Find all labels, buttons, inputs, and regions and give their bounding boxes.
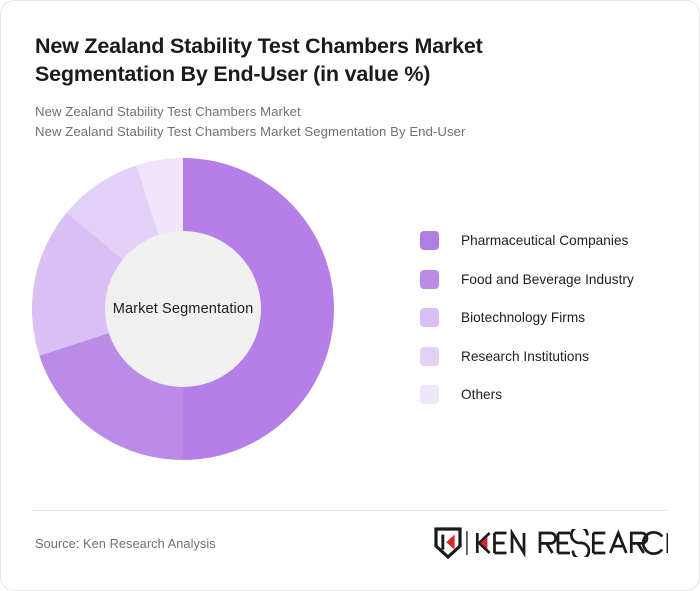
- legend-swatch-icon: [420, 270, 439, 289]
- chart-legend: Pharmaceutical CompaniesFood and Beverag…: [420, 222, 670, 415]
- logo-divider-bar: [462, 529, 471, 557]
- ken-research-logo: [434, 527, 668, 559]
- chart-header: New Zealand Stability Test Chambers Mark…: [1, 1, 699, 143]
- chart-body: Market Segmentation Pharmaceutical Compa…: [1, 143, 699, 481]
- source-note: Source: Ken Research Analysis: [35, 536, 216, 551]
- legend-item-label: Others: [461, 387, 502, 402]
- breadcrumb: New Zealand Stability Test Chambers Mark…: [35, 102, 665, 143]
- subtitle-line-1: New Zealand Stability Test Chambers Mark…: [35, 102, 665, 122]
- shield-k-icon: [434, 527, 462, 559]
- chart-footer: Source: Ken Research Analysis: [35, 527, 668, 559]
- legend-swatch-icon: [420, 231, 439, 250]
- legend-item[interactable]: Others: [420, 376, 670, 415]
- legend-swatch-icon: [420, 385, 439, 404]
- legend-swatch-icon: [420, 347, 439, 366]
- brand-wordmark: [472, 529, 668, 557]
- legend-item-label: Research Institutions: [461, 349, 589, 364]
- donut-inner-circle: [105, 231, 261, 387]
- legend-item-label: Food and Beverage Industry: [461, 272, 634, 287]
- legend-item-label: Biotechnology Firms: [461, 310, 585, 325]
- legend-item[interactable]: Food and Beverage Industry: [420, 260, 670, 299]
- footer-divider: [32, 510, 668, 511]
- legend-item[interactable]: Research Institutions: [420, 337, 670, 376]
- legend-item[interactable]: Biotechnology Firms: [420, 299, 670, 338]
- chart-card: New Zealand Stability Test Chambers Mark…: [0, 0, 700, 591]
- subtitle-line-2: New Zealand Stability Test Chambers Mark…: [35, 122, 665, 142]
- legend-item[interactable]: Pharmaceutical Companies: [420, 222, 670, 261]
- donut-chart-svg: [32, 158, 334, 460]
- donut-chart: Market Segmentation: [32, 158, 334, 460]
- page-title: New Zealand Stability Test Chambers Mark…: [35, 32, 595, 89]
- legend-swatch-icon: [420, 308, 439, 327]
- legend-item-label: Pharmaceutical Companies: [461, 233, 628, 248]
